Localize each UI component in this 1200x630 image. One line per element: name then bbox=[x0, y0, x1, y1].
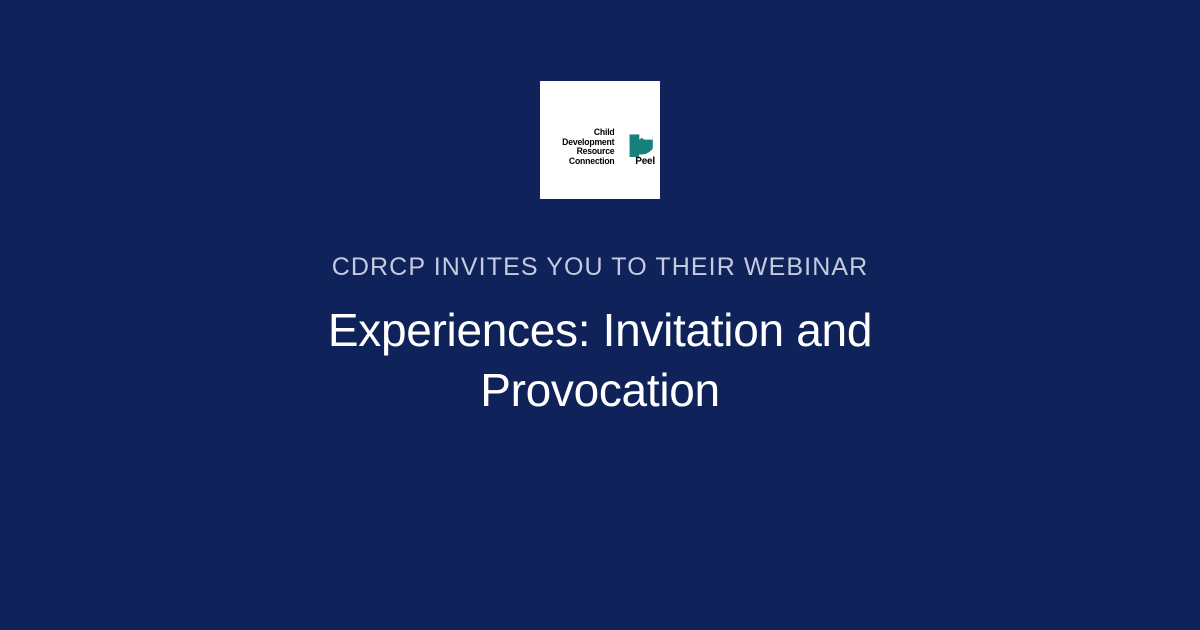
logo-lockup: Child Development Resource Connection bbox=[546, 117, 654, 167]
logo-wordmark-line-4: Connection bbox=[569, 157, 615, 166]
webinar-announcement-slide: Child Development Resource Connection bbox=[0, 0, 1200, 630]
logo-wordmark: Child Development Resource Connection bbox=[546, 128, 614, 167]
logo-inner: Child Development Resource Connection bbox=[540, 81, 660, 199]
eyebrow-text: CDRCP INVITES YOU TO THEIR WEBINAR bbox=[0, 252, 1200, 282]
slide-text-block: CDRCP INVITES YOU TO THEIR WEBINAR Exper… bbox=[0, 252, 1200, 420]
page-title: Experiences: Invitation and Provocation bbox=[240, 300, 960, 420]
logo-card: Child Development Resource Connection bbox=[540, 81, 660, 199]
logo-region-label: Peel bbox=[635, 157, 655, 167]
logo-figure-wrap: Peel bbox=[615, 117, 654, 167]
person-arms-raised-icon bbox=[615, 117, 654, 157]
